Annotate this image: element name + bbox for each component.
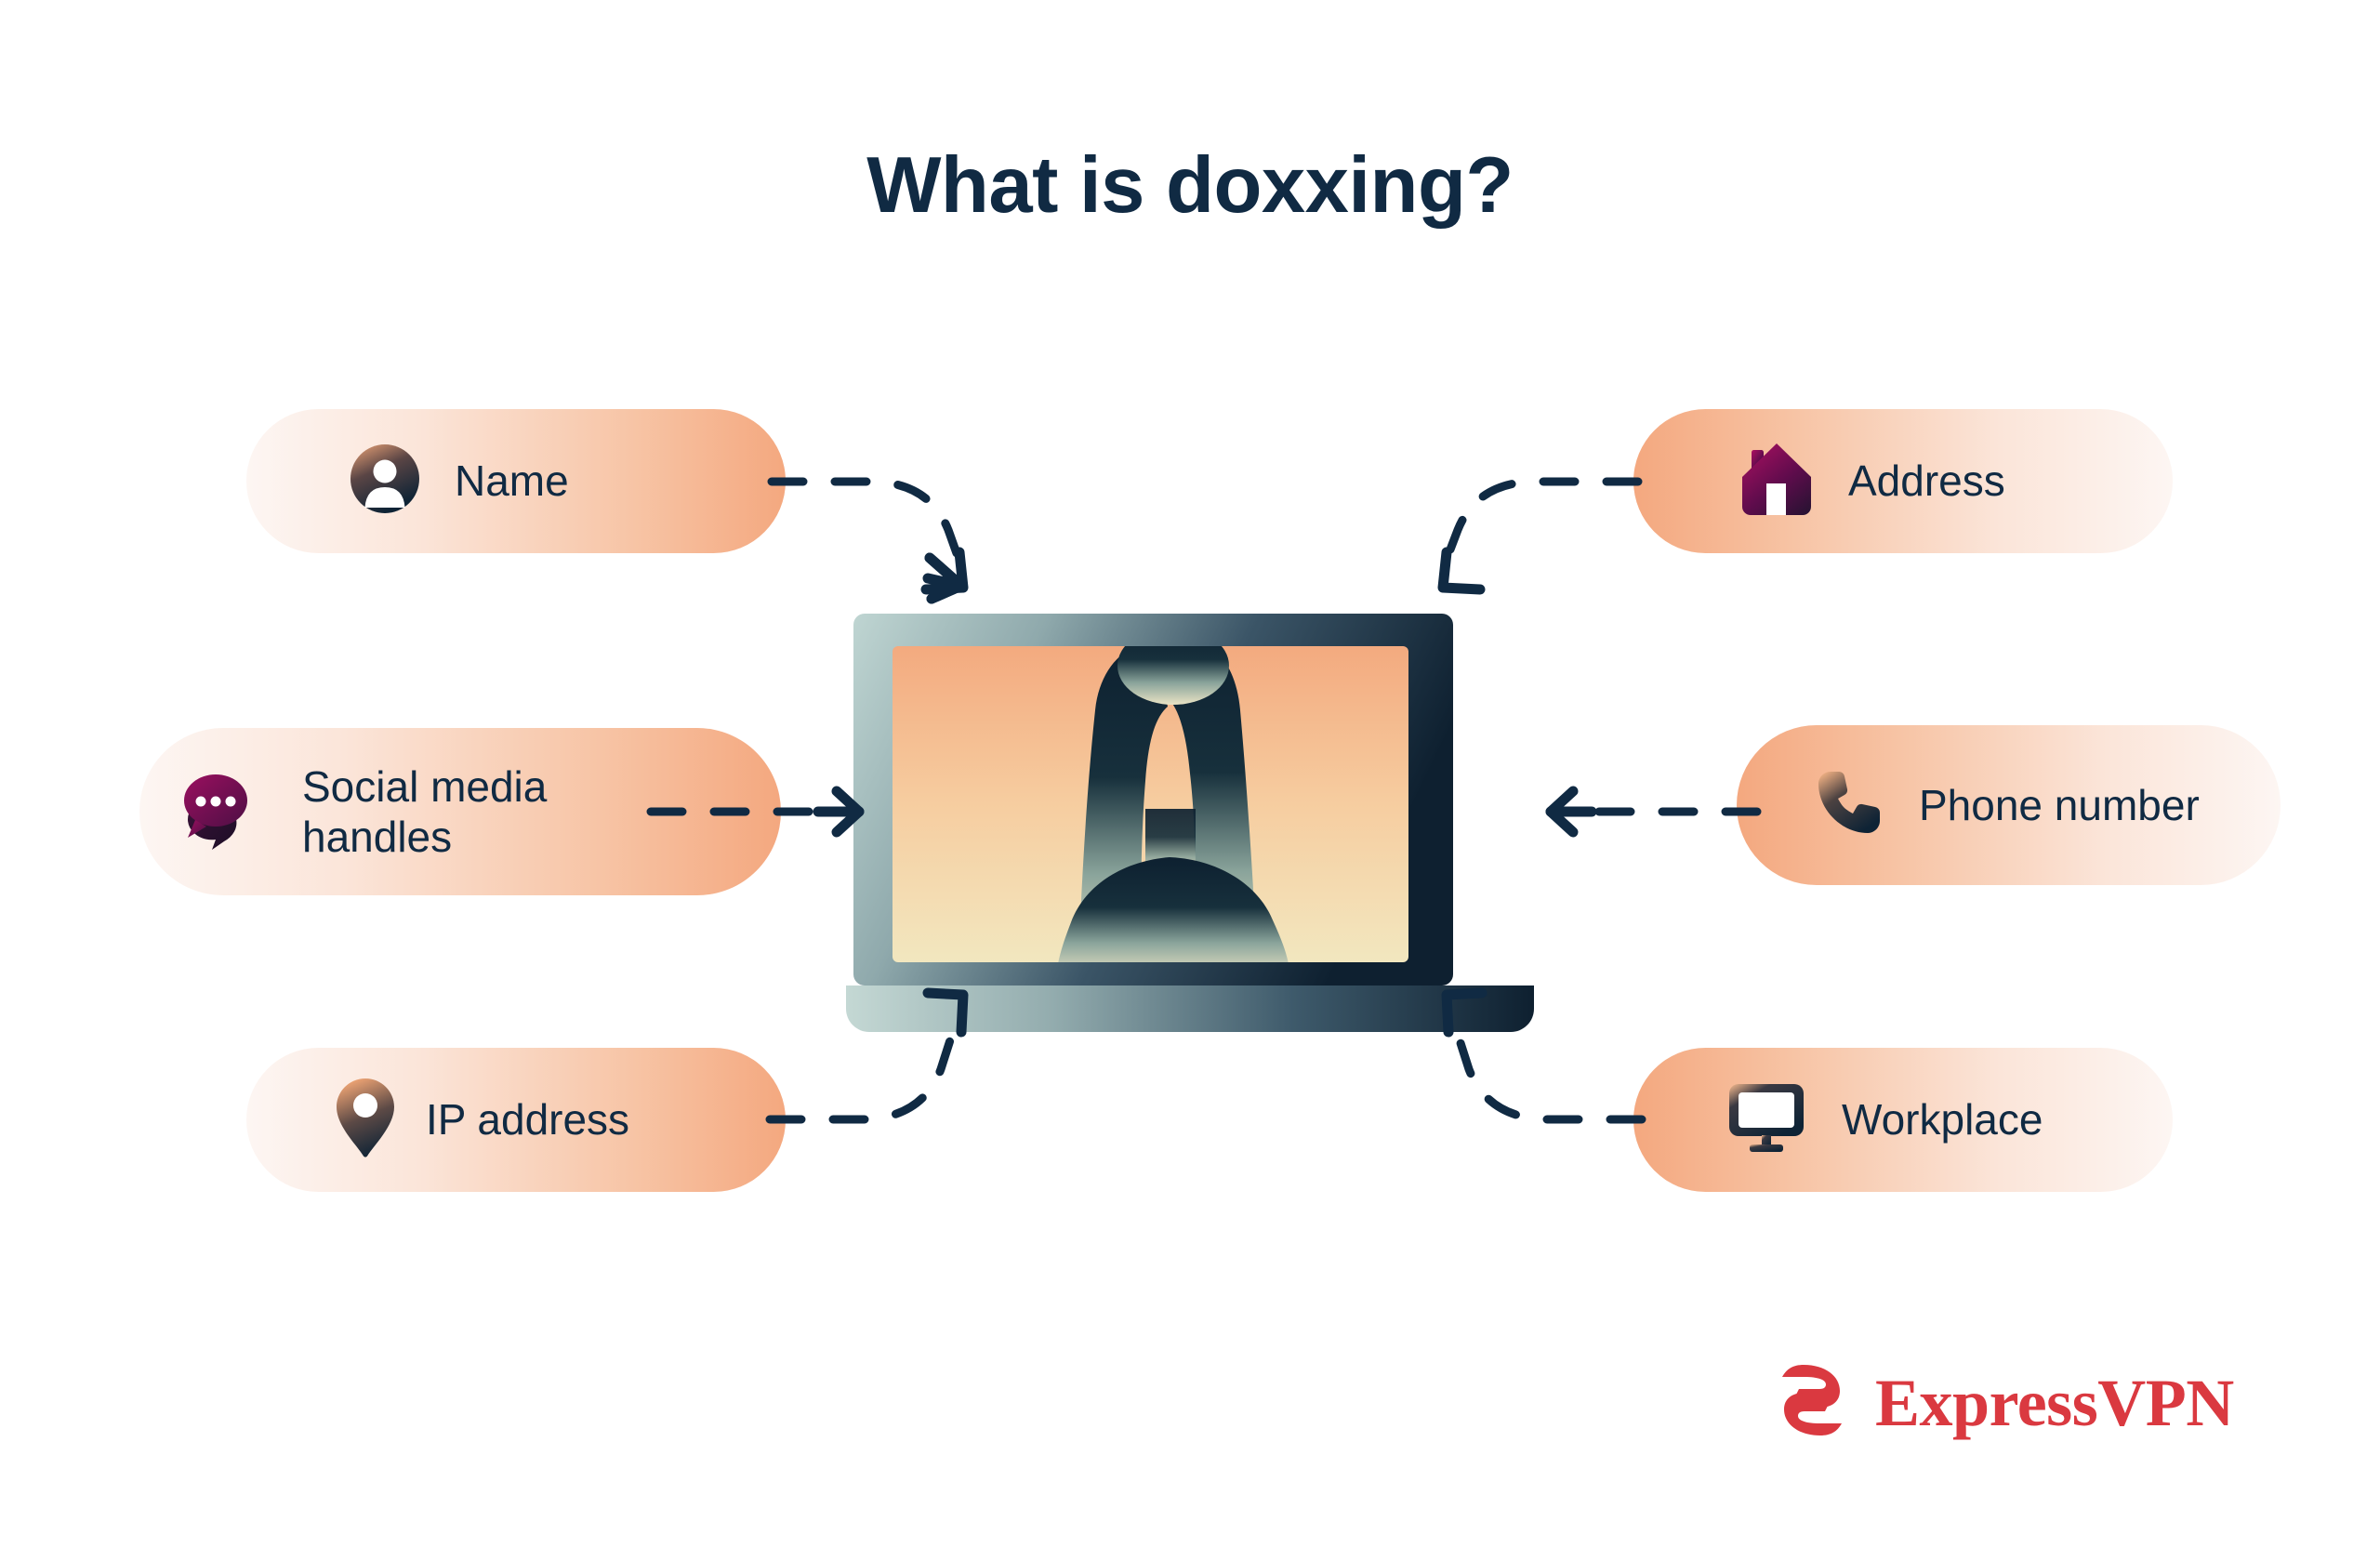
pill-address: Address <box>1633 409 2173 553</box>
expressvpn-wordmark: ExpressVPN <box>1875 1369 2234 1436</box>
pill-label-address: Address <box>1848 456 2005 506</box>
expressvpn-logo: ExpressVPN <box>1771 1359 2234 1446</box>
pill-label-social-media-handles: Social media handles <box>302 761 547 863</box>
laptop-with-person-silhouette <box>846 614 1534 1032</box>
pill-label-name: Name <box>455 456 569 506</box>
pill-label-phone-number: Phone number <box>1919 780 2200 830</box>
pill-label-workplace: Workplace <box>1842 1094 2043 1144</box>
pill-social-media-handles: Social media handles <box>139 728 781 895</box>
house-icon <box>1740 440 1813 523</box>
expressvpn-e-logo-icon <box>1771 1359 1853 1446</box>
pill-phone-number: Phone number <box>1737 725 2281 885</box>
pill-label-ip-address: IP address <box>426 1094 629 1144</box>
pill-ip-address: IP address <box>246 1048 786 1192</box>
connector-address-to-laptop <box>1443 482 1638 589</box>
infographic-canvas: What is doxxing? Name <box>0 0 2380 1561</box>
connector-name-to-laptop <box>772 482 963 599</box>
page-title: What is doxxing? <box>0 144 2380 227</box>
phone-handset-icon <box>1811 766 1885 845</box>
pill-workplace: Workplace <box>1633 1048 2173 1192</box>
connector-phone-to-laptop <box>1551 791 1757 832</box>
location-pin-icon <box>335 1077 396 1163</box>
monitor-icon <box>1726 1081 1806 1158</box>
chat-bubbles-icon <box>178 769 276 855</box>
pill-name: Name <box>246 409 786 553</box>
person-avatar-icon <box>349 443 421 520</box>
